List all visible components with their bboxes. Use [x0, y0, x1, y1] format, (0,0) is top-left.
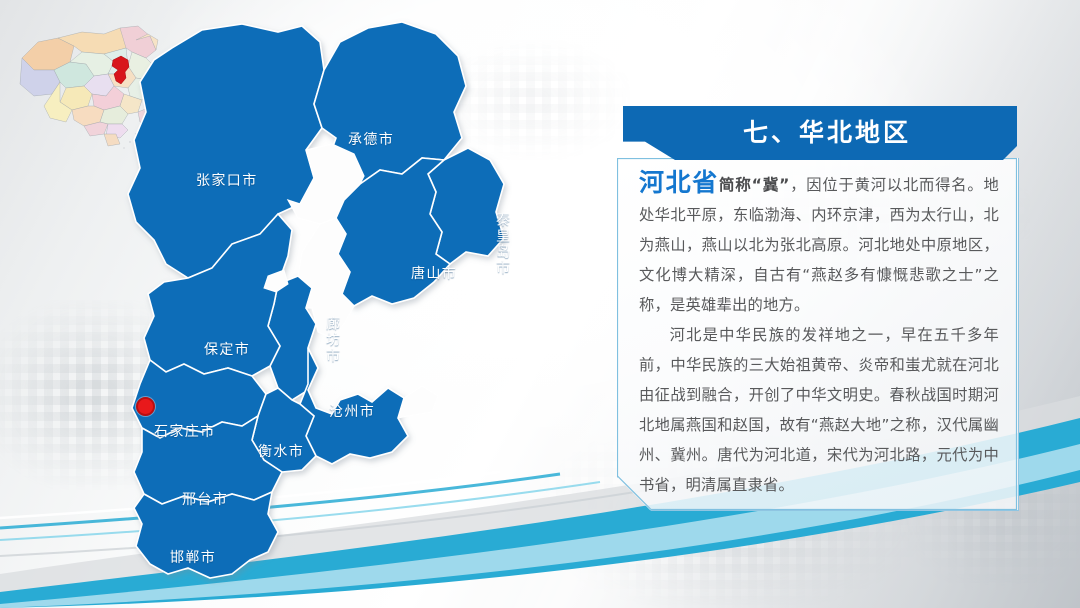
map-label-zhangjiakou: 张家口市 — [196, 170, 258, 190]
capital-marker-shijiazhuang — [136, 397, 155, 416]
hebei-map-svg — [92, 8, 512, 588]
map-label-handan: 邯郸市 — [170, 547, 216, 567]
map-label-qinhuangdao: 秦皇岛市 — [492, 212, 512, 276]
map-label-langfang: 廊坊市 — [322, 316, 342, 364]
panel-text-block: 河北省简称“冀”，因位于黄河以北而得名。地处华北平原，东临渤海、内环京津，西为太… — [639, 168, 999, 500]
map-label-baoding: 保定市 — [204, 339, 250, 359]
province-name: 河北省 — [639, 168, 719, 197]
region-zhangjiakou — [128, 24, 324, 278]
section-header-title: 七、华北地区 — [743, 113, 911, 149]
section-header-banner: 七、华北地区 — [623, 106, 1017, 160]
hebei-province-map: 张家口市 承德市 秦皇岛市 唐山市 廊坊市 保定市 沧州市 石家庄市 衡水市 邢… — [92, 8, 512, 588]
map-label-xingtai: 邢台市 — [182, 489, 228, 509]
map-label-chengde: 承德市 — [348, 129, 394, 149]
map-label-cangzhou: 沧州市 — [329, 401, 375, 421]
map-label-hengshui: 衡水市 — [258, 441, 304, 461]
panel-paragraph-2: 河北是中华民族的发祥地之一，早在五千多年前，中华民族的三大始祖黄帝、炎帝和蚩尤就… — [639, 320, 999, 500]
province-abbrev-note: 简称“冀” — [719, 176, 790, 194]
info-panel: 七、华北地区 河北省简称“冀”，因位于黄河以北而得名。地处华北平原，东临渤海、内… — [617, 106, 1017, 510]
map-label-shijiazhuang: 石家庄市 — [154, 421, 216, 441]
map-label-tangshan: 唐山市 — [411, 263, 457, 283]
slide-canvas: 张家口市 承德市 秦皇岛市 唐山市 廊坊市 保定市 沧州市 石家庄市 衡水市 邢… — [0, 0, 1080, 608]
